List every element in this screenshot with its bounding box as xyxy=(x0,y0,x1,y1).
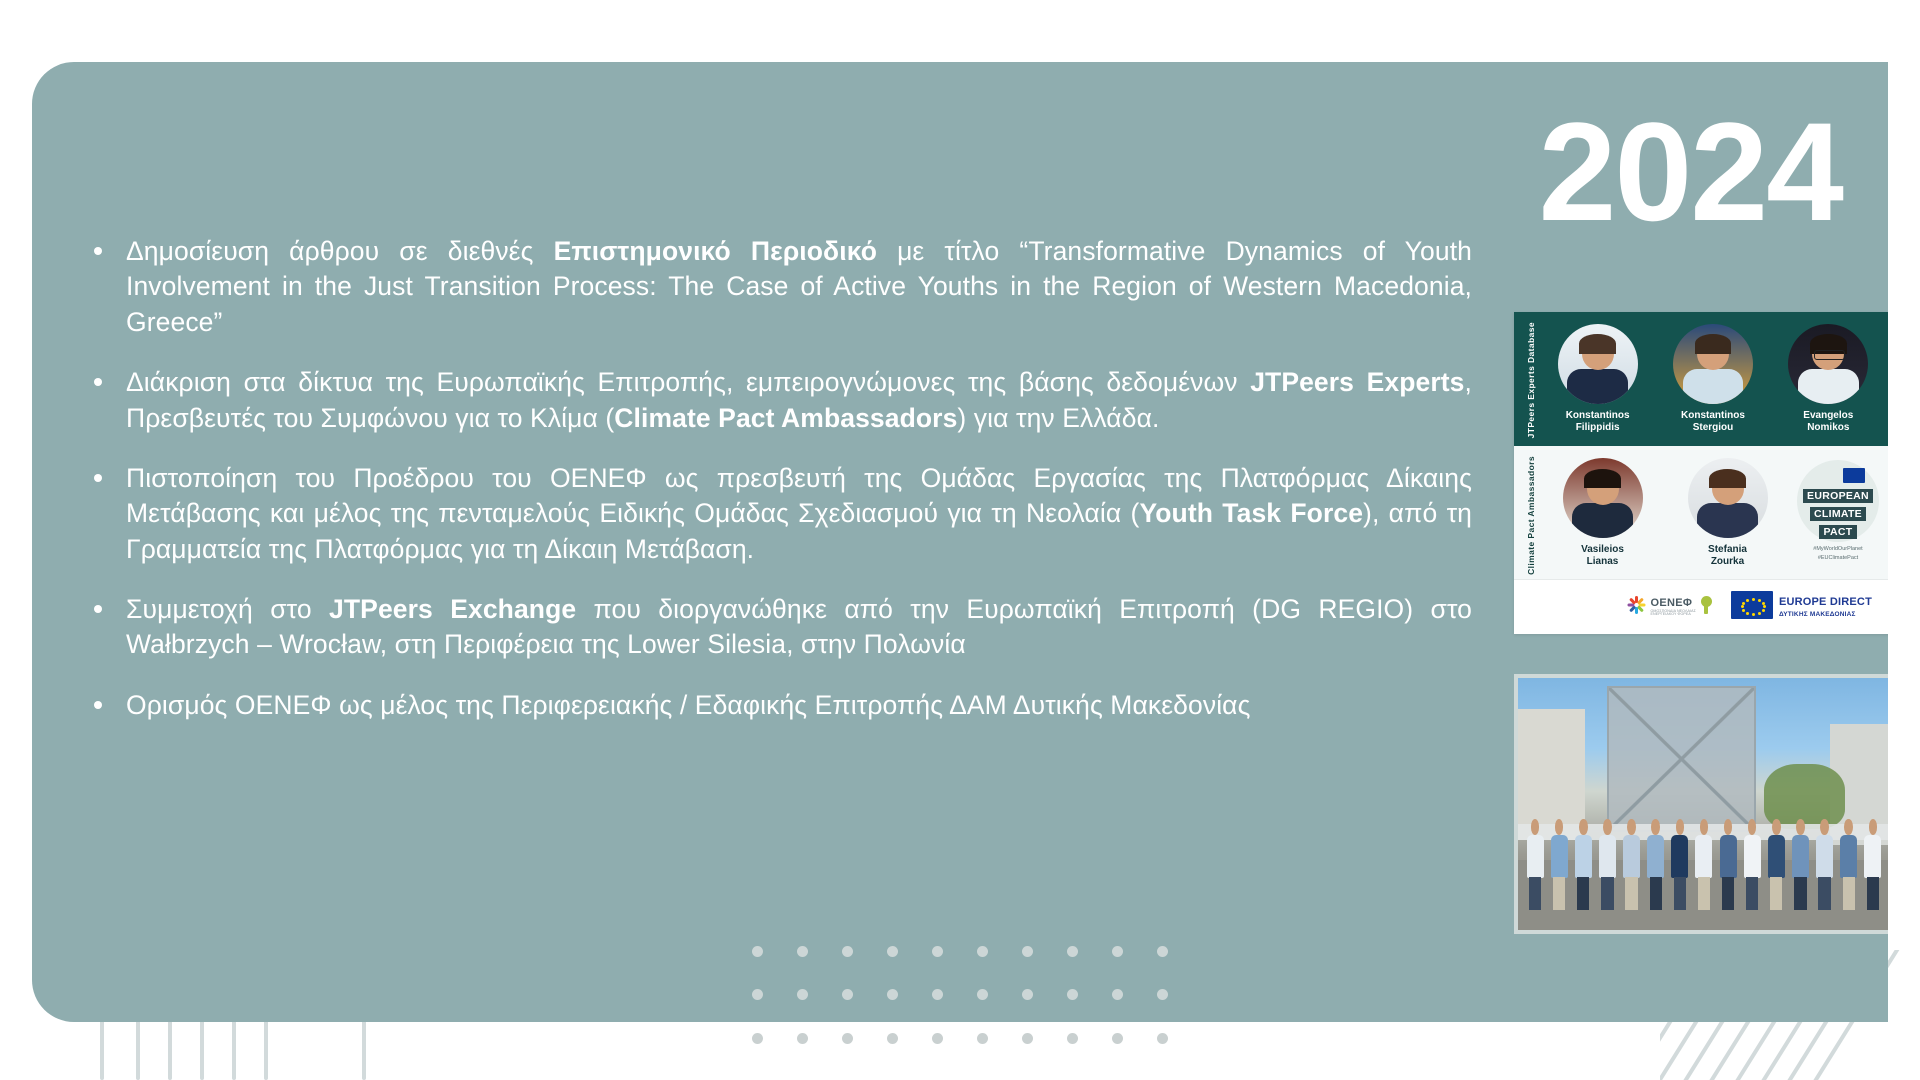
eu-star xyxy=(1742,609,1745,612)
eu-star xyxy=(1752,613,1755,616)
climate-pact-ambassadors-section: Climate Pact Ambassadors Vasileios Liana… xyxy=(1514,446,1888,579)
photo-person xyxy=(1670,819,1689,910)
bullet-text: Πιστοποίηση του Προέδρου του ΟΕΝΕΦ ως πρ… xyxy=(126,461,1472,567)
decorative-dot xyxy=(887,989,898,1000)
photo-person-legs xyxy=(1529,877,1541,910)
bullet-marker-icon xyxy=(94,247,102,255)
person-card: Konstantinos Stergiou xyxy=(1665,322,1761,434)
decorative-dot xyxy=(887,946,898,957)
europe-direct-logo: EUROPE DIRECT ΔΥΤΙΚΗΣ ΜΑΚΕΔΟΝΙΑΣ xyxy=(1731,591,1872,619)
photo-person-legs xyxy=(1794,877,1806,910)
photo-person xyxy=(1598,819,1617,910)
experts-database-section: JTPeers Experts Database Konstantinos Fi… xyxy=(1514,312,1888,446)
avatar xyxy=(1563,458,1643,538)
content-panel: 2024 Δημοσίευση άρθρου σε διεθνές Επιστη… xyxy=(32,62,1888,1022)
photo-person xyxy=(1791,819,1810,910)
photo-person-legs xyxy=(1746,877,1758,910)
photo-person-head xyxy=(1579,819,1587,834)
photo-person-head xyxy=(1772,819,1780,834)
experts-avatar-row: Konstantinos FilippidisKonstantinos Ster… xyxy=(1540,322,1886,438)
photo-person-legs xyxy=(1553,877,1565,910)
bullet-marker-icon xyxy=(94,378,102,386)
oenef-burst-icon xyxy=(1627,595,1647,615)
eu-star xyxy=(1758,612,1761,615)
bullet-publication: Δημοσίευση άρθρου σε διεθνές Επιστημονικ… xyxy=(80,234,1472,340)
decorative-dot xyxy=(1067,1033,1078,1044)
group-photo-card xyxy=(1514,674,1888,934)
decorative-dot xyxy=(977,1033,988,1044)
bullet-text: Διάκριση στα δίκτυα της Ευρωπαϊκής Επιτρ… xyxy=(126,365,1472,436)
decorative-dot xyxy=(932,946,943,957)
photo-person-body xyxy=(1671,835,1688,879)
eu-star xyxy=(1758,599,1761,602)
group-photo-image xyxy=(1518,678,1888,930)
person-name: Stefania Zourka xyxy=(1680,544,1776,568)
bullet-emphasis: JTPeers Experts xyxy=(1250,367,1464,397)
decorative-dot xyxy=(1067,989,1078,1000)
photo-person-legs xyxy=(1698,877,1710,910)
decorative-dot xyxy=(1157,1033,1168,1044)
oenef-name: OENEΦ xyxy=(1651,597,1693,609)
decorative-dot xyxy=(842,1033,853,1044)
decorative-dot xyxy=(887,1033,898,1044)
photo-person-body xyxy=(1695,835,1712,879)
decorative-dot xyxy=(1067,946,1078,957)
bullet-certification: Πιστοποίηση του Προέδρου του ΟΕΝΕΦ ως πρ… xyxy=(80,461,1472,567)
climate-pact-line3: PACT xyxy=(1819,525,1856,539)
decorative-dot xyxy=(1112,989,1123,1000)
bullet-span: ) για την Ελλάδα. xyxy=(957,403,1159,433)
decorative-dot xyxy=(1022,1033,1033,1044)
bullet-emphasis: Επιστημονικό Περιοδικό xyxy=(554,236,877,266)
decorative-dot xyxy=(752,946,763,957)
bullet-marker-icon xyxy=(94,474,102,482)
bullet-span: Διάκριση στα δίκτυα της Ευρωπαϊκής Επιτρ… xyxy=(126,367,1250,397)
photo-person xyxy=(1550,819,1569,910)
eu-flag-icon xyxy=(1843,468,1865,483)
europe-direct-title: EUROPE DIRECT xyxy=(1779,596,1872,608)
avatar-body xyxy=(1567,369,1628,404)
photo-person-head xyxy=(1531,819,1539,834)
eu-star xyxy=(1752,598,1755,601)
bullet-committee: Ορισμός ΟΕΝΕΦ ως μέλος της Περιφερειακής… xyxy=(80,688,1472,723)
glasses-icon xyxy=(1814,350,1845,359)
photo-person xyxy=(1863,819,1882,910)
slide-root: 2024 Δημοσίευση άρθρου σε διεθνές Επιστη… xyxy=(0,0,1920,1080)
decorative-dot xyxy=(977,946,988,957)
photo-person-legs xyxy=(1625,877,1637,910)
photo-person-legs xyxy=(1843,877,1855,910)
person-card: Vasileios Lianas xyxy=(1555,456,1651,568)
person-card: Konstantinos Filippidis xyxy=(1550,322,1646,434)
photo-person xyxy=(1839,819,1858,910)
climate-pact-ambassadors-label: Climate Pact Ambassadors xyxy=(1522,456,1540,575)
eu-star xyxy=(1742,602,1745,605)
decorative-dot xyxy=(1157,946,1168,957)
jtpeers-experts-card: JTPeers Experts Database Konstantinos Fi… xyxy=(1514,312,1888,634)
photo-person-head xyxy=(1700,819,1708,834)
photo-person-legs xyxy=(1577,877,1589,910)
bullet-exchange: Συμμετοχή στο JTPeers Exchange που διοργ… xyxy=(80,592,1472,663)
photo-person-legs xyxy=(1650,877,1662,910)
photo-person-head xyxy=(1603,819,1611,834)
photo-person-head xyxy=(1676,819,1684,834)
person-name: Konstantinos Stergiou xyxy=(1665,410,1761,434)
photo-person-head xyxy=(1651,819,1659,834)
page-title-year: 2024 xyxy=(1539,102,1842,242)
decorative-dot xyxy=(842,946,853,957)
decorative-dot xyxy=(752,1033,763,1044)
bullet-list: Δημοσίευση άρθρου σε διεθνές Επιστημονικ… xyxy=(80,234,1472,723)
person-card: Stefania Zourka xyxy=(1680,456,1776,568)
experts-database-label: JTPeers Experts Database xyxy=(1522,322,1540,438)
eu-star xyxy=(1746,612,1749,615)
photo-person xyxy=(1574,819,1593,910)
avatar xyxy=(1688,458,1768,538)
eu-star xyxy=(1763,605,1766,608)
photo-person-body xyxy=(1575,835,1592,879)
eu-star xyxy=(1746,599,1749,602)
bullet-span: Ορισμός ΟΕΝΕΦ ως μέλος της Περιφερειακής… xyxy=(126,690,1250,720)
person-card: Evangelos Nomikos xyxy=(1780,322,1876,434)
decorative-dot-grid xyxy=(735,930,1185,1060)
burst-petal xyxy=(1635,607,1638,614)
partner-logo-strip: OENEΦ ΟΜΟΣΠΟΝΔΙΑ ΝΕΟΛΑΙΑΣ ΕΝΕΡΓΕΙΑΚΟΥ ΦΟ… xyxy=(1514,579,1888,634)
oenef-tree-icon xyxy=(1700,596,1713,614)
decorative-dot xyxy=(932,1033,943,1044)
europe-direct-region: ΔΥΤΙΚΗΣ ΜΑΚΕΔΟΝΙΑΣ xyxy=(1779,611,1872,619)
photo-person-head xyxy=(1844,819,1852,834)
photo-person-body xyxy=(1864,835,1881,879)
photo-person-head xyxy=(1748,819,1756,834)
photo-person-head xyxy=(1555,819,1563,834)
photo-person-legs xyxy=(1722,877,1734,910)
ambassadors-avatar-row: Vasileios LianasStefania Zourka xyxy=(1540,456,1790,575)
decorative-dot xyxy=(1022,989,1033,1000)
avatar-hair xyxy=(1579,334,1616,353)
photo-person-legs xyxy=(1867,877,1879,910)
avatar-body xyxy=(1683,369,1744,404)
photo-person xyxy=(1767,819,1786,910)
climate-pact-line2: CLIMATE xyxy=(1810,507,1866,521)
decorative-dot xyxy=(752,989,763,1000)
avatar xyxy=(1673,324,1753,404)
photo-person-legs xyxy=(1770,877,1782,910)
photo-person xyxy=(1525,819,1544,910)
avatar xyxy=(1788,324,1868,404)
photo-person-body xyxy=(1551,835,1568,879)
photo-person-head xyxy=(1627,819,1635,834)
photo-people-group xyxy=(1525,784,1882,910)
decorative-dot xyxy=(1022,946,1033,957)
decorative-dot xyxy=(1157,989,1168,1000)
decorative-dot xyxy=(932,989,943,1000)
decorative-dot xyxy=(842,989,853,1000)
person-name: Evangelos Nomikos xyxy=(1780,410,1876,434)
photo-person-body xyxy=(1816,835,1833,879)
person-name: Konstantinos Filippidis xyxy=(1550,410,1646,434)
bullet-marker-icon xyxy=(94,701,102,709)
bullet-span: Δημοσίευση άρθρου σε διεθνές xyxy=(126,236,554,266)
decorative-dot xyxy=(797,946,808,957)
photo-person-body xyxy=(1720,835,1737,879)
decorative-dot xyxy=(1112,1033,1123,1044)
european-climate-pact-logo: EUROPEAN CLIMATE PACT #MyWorldOurPlanet … xyxy=(1790,456,1886,575)
photo-person xyxy=(1694,819,1713,910)
avatar-hair xyxy=(1695,334,1732,353)
photo-person-body xyxy=(1792,835,1809,879)
bullet-emphasis: JTPeers Exchange xyxy=(329,594,576,624)
photo-person-legs xyxy=(1674,877,1686,910)
photo-person-legs xyxy=(1601,877,1613,910)
photo-person-head xyxy=(1724,819,1732,834)
decorative-dot xyxy=(977,989,988,1000)
avatar-body xyxy=(1572,503,1633,538)
photo-person-head xyxy=(1820,819,1828,834)
avatar-hair xyxy=(1584,469,1621,488)
oenef-logo: OENEΦ ΟΜΟΣΠΟΝΔΙΑ ΝΕΟΛΑΙΑΣ ΕΝΕΡΓΕΙΑΚΟΥ ΦΟ… xyxy=(1627,594,1713,617)
decorative-dot xyxy=(1112,946,1123,957)
photo-person xyxy=(1718,819,1737,910)
photo-person-body xyxy=(1744,835,1761,879)
bullet-emphasis: Climate Pact Ambassadors xyxy=(614,403,957,433)
bullet-marker-icon xyxy=(94,605,102,613)
avatar-body xyxy=(1798,369,1859,404)
eu-star xyxy=(1762,602,1765,605)
eu-star xyxy=(1741,605,1744,608)
photo-person xyxy=(1743,819,1762,910)
photo-person-body xyxy=(1768,835,1785,879)
photo-person xyxy=(1646,819,1665,910)
bullet-text: Συμμετοχή στο JTPeers Exchange που διοργ… xyxy=(126,592,1472,663)
bullet-text: Δημοσίευση άρθρου σε διεθνές Επιστημονικ… xyxy=(126,234,1472,340)
person-name: Vasileios Lianas xyxy=(1555,544,1651,568)
photo-person-body xyxy=(1840,835,1857,879)
eu-flag-icon xyxy=(1731,591,1773,619)
bullet-span: Συμμετοχή στο xyxy=(126,594,329,624)
media-column: JTPeers Experts Database Konstantinos Fi… xyxy=(1514,312,1888,934)
photo-person xyxy=(1815,819,1834,910)
bullet-text: Ορισμός ΟΕΝΕΦ ως μέλος της Περιφερειακής… xyxy=(126,688,1472,723)
eu-star xyxy=(1762,609,1765,612)
photo-person xyxy=(1622,819,1641,910)
climate-pact-line1: EUROPEAN xyxy=(1803,489,1873,503)
photo-person-body xyxy=(1599,835,1616,879)
bullet-networks: Διάκριση στα δίκτυα της Ευρωπαϊκής Επιτρ… xyxy=(80,365,1472,436)
avatar-body xyxy=(1697,503,1758,538)
photo-person-body xyxy=(1527,835,1544,879)
avatar xyxy=(1558,324,1638,404)
oenef-subtitle: ΟΜΟΣΠΟΝΔΙΑ ΝΕΟΛΑΙΑΣ ΕΝΕΡΓΕΙΑΚΟΥ ΦΟΡΕΑ xyxy=(1651,610,1696,617)
decorative-dot xyxy=(797,989,808,1000)
photo-person-body xyxy=(1647,835,1664,879)
decorative-dot xyxy=(797,1033,808,1044)
photo-person-head xyxy=(1869,819,1877,834)
photo-person-legs xyxy=(1818,877,1830,910)
avatar-hair xyxy=(1709,469,1746,488)
climate-pact-hashtags: #MyWorldOurPlanet #EUClimatePact xyxy=(1813,545,1862,562)
photo-person-head xyxy=(1796,819,1804,834)
photo-person-body xyxy=(1623,835,1640,879)
bullet-emphasis: Youth Task Force xyxy=(1139,498,1363,528)
